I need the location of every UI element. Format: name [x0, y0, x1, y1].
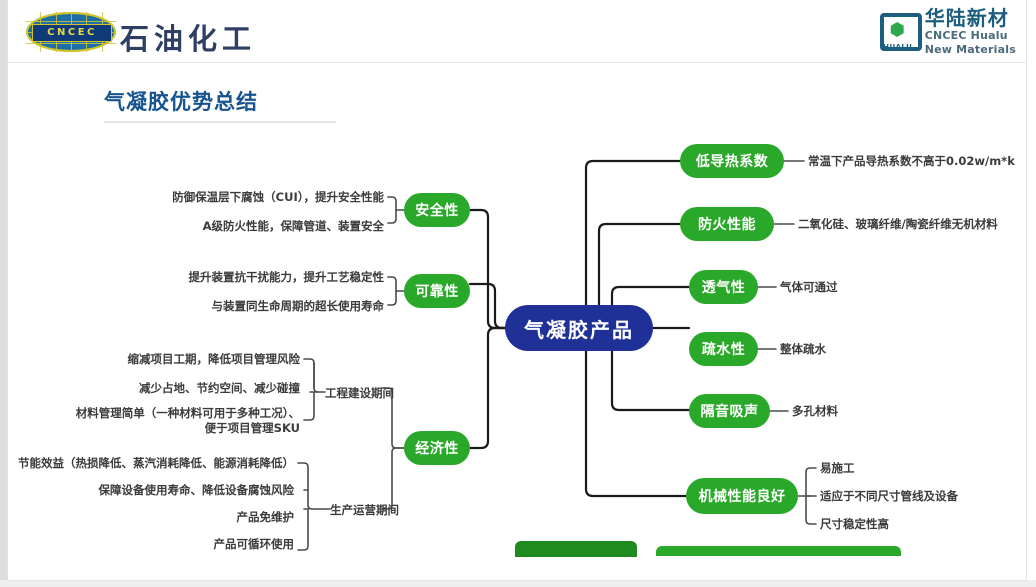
branch-node-breathability[interactable]: 透气性 [689, 270, 758, 304]
branch-node-breathability-label: 透气性 [702, 277, 746, 297]
branch-node-reliability-label: 可靠性 [415, 281, 459, 301]
branch-node-economy[interactable]: 经济性 [404, 431, 470, 465]
branch-node-sound-insulation-label: 隔音吸声 [701, 401, 759, 421]
leaf-operation-4: 产品可循环使用 [12, 537, 294, 552]
leaf-safety-2: A级防火性能，保障管道、装置安全 [88, 219, 384, 234]
branch-node-safety-label: 安全性 [415, 200, 459, 220]
branch-node-fire-resistance[interactable]: 防火性能 [680, 207, 774, 241]
slide-canvas: CNCEC 石油化工 HUALU 华陆新材 CNCEC Hualu New Ma… [8, 0, 1026, 580]
branch-node-safety[interactable]: 安全性 [404, 193, 470, 227]
mindmap-center-node[interactable]: 气凝胶产品 [505, 305, 653, 351]
leaf-hydrophobicity-1: 整体疏水 [780, 342, 826, 357]
branch-node-low-conductivity[interactable]: 低导热系数 [680, 144, 784, 178]
branch-node-economy-label: 经济性 [415, 438, 459, 458]
footer-shape-left [515, 541, 637, 557]
leaf-mechanical-3: 尺寸稳定性高 [820, 517, 889, 532]
branch-node-low-conductivity-label: 低导热系数 [696, 151, 769, 171]
slide-bottom-edge [0, 580, 1036, 587]
leaf-safety-1: 防御保温层下腐蚀（CUI），提升安全性能 [88, 190, 384, 205]
leaf-fire-resistance-1: 二氧化硅、玻璃纤维/陶瓷纤维无机材料 [798, 217, 998, 232]
leaf-construction-1: 缩减项目工期，降低项目管理风险 [18, 352, 300, 367]
mindmap-center-label: 气凝胶产品 [524, 314, 634, 343]
leaf-reliability-1: 提升装置抗干扰能力，提升工艺稳定性 [88, 270, 384, 285]
branch-node-mechanical-label: 机械性能良好 [699, 486, 786, 506]
leaf-sound-insulation-1: 多孔材料 [792, 404, 838, 419]
leaf-operation-2: 保障设备使用寿命、降低设备腐蚀风险 [12, 483, 294, 498]
branch-node-sound-insulation[interactable]: 隔音吸声 [689, 394, 770, 428]
leaf-operation-3: 产品免维护 [12, 510, 294, 525]
leaf-mechanical-1: 易施工 [820, 461, 855, 476]
branch-node-hydrophobicity[interactable]: 疏水性 [689, 332, 758, 366]
leaf-low-conductivity-1: 常温下产品导热系数不高于0.02w/m*k [808, 154, 1015, 169]
branch-node-hydrophobicity-label: 疏水性 [702, 339, 746, 359]
group-label-operation: 生产运营期间 [330, 502, 399, 518]
branch-node-mechanical[interactable]: 机械性能良好 [686, 478, 798, 514]
group-label-construction: 工程建设期间 [325, 385, 394, 401]
leaf-breathability-1: 气体可通过 [780, 280, 838, 295]
leaf-construction-3: 材料管理简单（一种材料可用于多种工况）、 [18, 406, 300, 421]
leaf-construction-4: 便于项目管理SKU [18, 421, 300, 436]
footer-shape-right [656, 546, 901, 556]
leaf-mechanical-2: 适应于不同尺寸管线及设备 [820, 489, 958, 504]
leaf-operation-1: 节能效益（热损降低、蒸汽消耗降低、能源消耗降低） [12, 456, 294, 471]
leaf-reliability-2: 与装置同生命周期的超长使用寿命 [88, 299, 384, 314]
branch-node-fire-resistance-label: 防火性能 [698, 214, 756, 234]
mindmap-diagram: 气凝胶产品 安全性 可靠性 经济性 防御保温层下腐蚀（CUI），提升安全性能 A… [8, 0, 1026, 580]
branch-node-reliability[interactable]: 可靠性 [404, 274, 470, 308]
leaf-construction-2: 减少占地、节约空间、减少碰撞 [18, 381, 300, 396]
slide-left-edge [0, 0, 8, 587]
